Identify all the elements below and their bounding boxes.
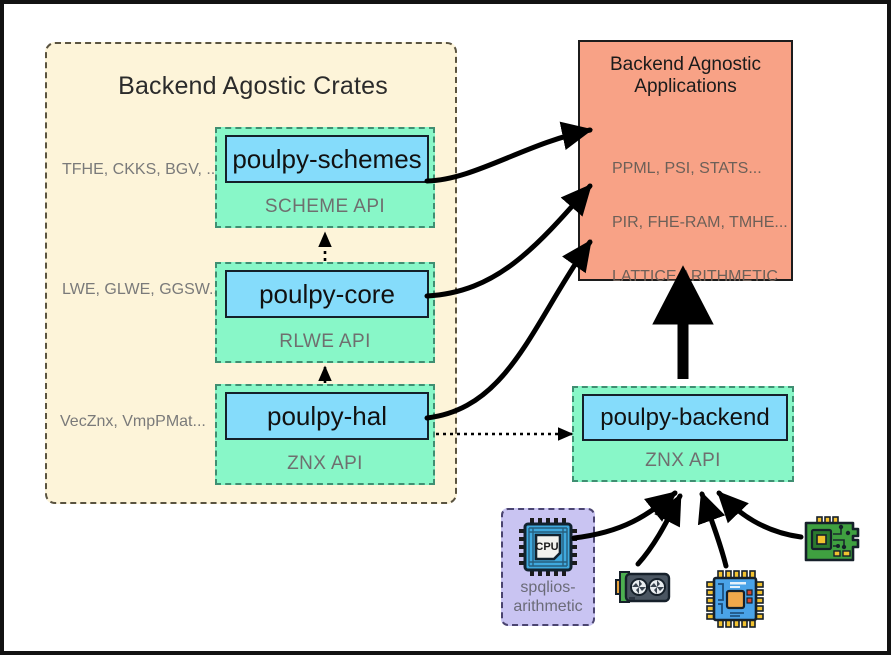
applications-title-line-1: Backend Agnostic <box>610 54 761 75</box>
side-label-core: LWE, GLWE, GGSW... <box>62 281 222 299</box>
arrow-asic-to-backend <box>702 494 726 566</box>
cpu-chip-icon: CPU <box>517 516 579 583</box>
applications-panel-title: Backend Agnostic Applications <box>580 54 791 99</box>
api-label-rlwe: RLWE API <box>217 331 433 353</box>
backend-znx-api-group: poulpy-backend ZNX API <box>572 386 794 482</box>
arrow-gpu-to-backend <box>638 496 680 564</box>
scheme-api-group: poulpy-schemes SCHEME API <box>215 127 435 228</box>
api-label-scheme: SCHEME API <box>217 196 433 218</box>
arrow-fpga-to-backend <box>719 493 801 537</box>
spqlios-label-line-2: arithmetic <box>513 598 582 615</box>
svg-text:CPU: CPU <box>535 541 558 553</box>
crate-box-poulpy-schemes[interactable]: poulpy-schemes <box>225 135 429 183</box>
application-item-ppml: PPML, PSI, STATS... <box>612 160 762 178</box>
side-label-hal: VecZnx, VmpPMat... <box>60 413 206 431</box>
crate-box-poulpy-hal[interactable]: poulpy-hal <box>225 392 429 440</box>
side-label-schemes: TFHE, CKKS, BGV, ... <box>62 161 220 179</box>
backend-agnostic-applications-panel: Backend Agnostic Applications PPML, PSI,… <box>578 40 793 281</box>
applications-title-line-2: Applications <box>634 76 736 97</box>
crate-box-poulpy-backend[interactable]: poulpy-backend <box>582 394 788 441</box>
znx-api-group: poulpy-hal ZNX API <box>215 384 435 485</box>
fpga-board-icon <box>803 516 861 569</box>
spqlios-arithmetic-label: spqlios- arithmetic <box>503 578 593 616</box>
diagram-canvas: Backend Agostic Crates TFHE, CKKS, BGV, … <box>0 0 891 655</box>
rlwe-api-group: poulpy-core RLWE API <box>215 262 435 363</box>
api-label-znx: ZNX API <box>217 453 433 475</box>
application-item-lattice: LATTICE ARITHMETIC <box>612 268 778 286</box>
application-item-pir: PIR, FHE-RAM, TMHE... <box>612 214 788 232</box>
api-label-backend-znx: ZNX API <box>574 450 792 472</box>
gpu-card-icon <box>615 568 671 611</box>
crates-container-title: Backend Agostic Crates <box>47 72 459 101</box>
asic-chip-icon <box>706 570 764 633</box>
crate-box-poulpy-core[interactable]: poulpy-core <box>225 270 429 318</box>
